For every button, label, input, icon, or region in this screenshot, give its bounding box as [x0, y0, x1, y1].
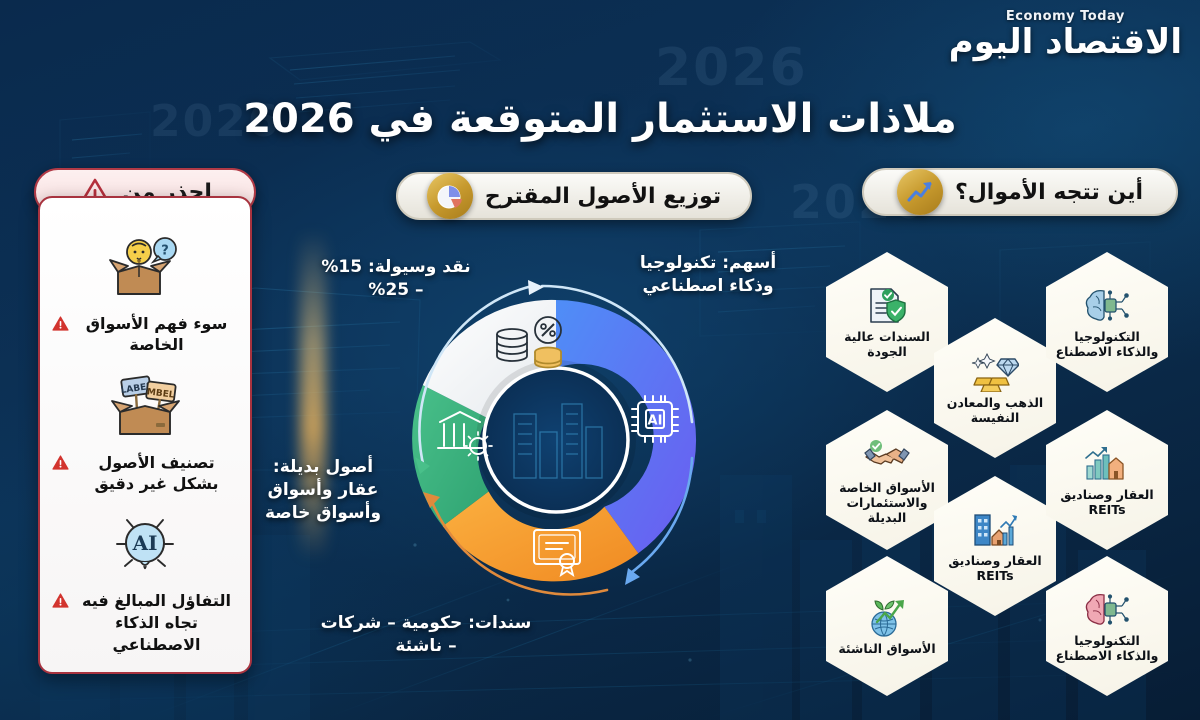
brain-chip-pink-icon: [1084, 589, 1130, 631]
warning-triangle-icon: [52, 593, 69, 608]
house-chart-growth-icon: [1084, 443, 1130, 485]
warning-item-1-label: سوء فهم الأسواق الخاصة: [75, 313, 238, 356]
hex-emerging-markets-label: الأسواق الناشئة: [834, 641, 940, 656]
hex-gold[interactable]: الذهب والمعادن النفيسة: [934, 318, 1056, 458]
warning-item-3: AI التفاؤل المبالغ فيه تجاه الذكاء الاصط…: [48, 508, 242, 655]
hex-reits-mid[interactable]: العقار وصناديق REITs: [934, 476, 1056, 616]
brain-chip-blue-icon: [1084, 285, 1130, 327]
page-title: ملاذات الاستثمار المتوقعة في 2026: [0, 96, 1200, 142]
donut-label-bonds: سندات: حكومية – شركات – ناشئة: [318, 612, 534, 658]
building-house-chart-icon: [972, 509, 1018, 551]
hex-emerging-markets[interactable]: الأسواق الناشئة: [826, 556, 948, 696]
warnings-panel: ? سوء فهم الأسواق الخاصة: [38, 196, 252, 674]
ai-chip-icon: AI: [632, 396, 678, 442]
trending-up-arrow-icon: [897, 169, 943, 215]
brand-logo-arabic: الاقتصاد اليوم: [949, 25, 1182, 59]
svg-text:AI: AI: [648, 414, 663, 429]
gold-bars-diamond-icon: [971, 351, 1019, 393]
warning-item-1: ? سوء فهم الأسواق الخاصة: [48, 231, 242, 356]
pie-chart-icon: [427, 173, 473, 219]
warning-triangle-icon: [52, 316, 69, 331]
hex-tech-top[interactable]: التكنولوجيا والذكاء الاصطناع: [1046, 252, 1168, 392]
hex-bonds-label: السندات عالية الجودة: [834, 329, 940, 359]
background-year-watermark-1: 2026: [655, 38, 808, 98]
brand-logo: Economy Today الاقتصاد اليوم: [949, 10, 1182, 59]
handshake-check-icon: [864, 436, 910, 478]
hex-bonds[interactable]: السندات عالية الجودة: [826, 252, 948, 392]
asset-allocation-donut-chart: AI: [392, 272, 720, 608]
ai-balloon-icon: AI: [48, 508, 242, 584]
infographic-canvas: 2026 2026 2026 Economy Today الاقتصاد ال…: [0, 0, 1200, 720]
hex-reits-right-label: العقار وصناديق REITs: [1054, 487, 1160, 517]
hex-gold-label: الذهب والمعادن النفيسة: [942, 395, 1048, 425]
hex-tech-bottom[interactable]: التكنولوجيا والذكاء الاصطناع: [1046, 556, 1168, 696]
hex-reits-mid-label: العقار وصناديق REITs: [942, 553, 1048, 583]
allocation-section-label: توزيع الأصول المقترح: [485, 184, 721, 209]
warning-item-3-label: التفاؤل المبالغ فيه تجاه الذكاء الاصطناع…: [75, 590, 238, 655]
labels-in-box-icon: LABEL MBEL: [48, 370, 242, 446]
svg-text:AI: AI: [132, 531, 158, 555]
donut-label-alternatives: أصول بديلة: عقار وأسواق وأسواق خاصة: [256, 456, 390, 525]
globe-growth-leaf-icon: [865, 597, 909, 639]
hex-private-markets-label: الأسواق الخاصة والاستئمارات البديلة: [834, 480, 940, 525]
hex-tech-bottom-label: التكنولوجيا والذكاء الاصطناع: [1054, 633, 1160, 663]
svg-text:?: ?: [161, 243, 169, 258]
document-shield-check-icon: [865, 285, 909, 327]
hex-reits-right[interactable]: العقار وصناديق REITs: [1046, 410, 1168, 550]
warning-triangle-icon: [52, 455, 69, 470]
allocation-section-header: توزيع الأصول المقترح: [396, 172, 752, 220]
flows-section-label: أين تتجه الأموال؟: [955, 180, 1143, 205]
warning-item-2: LABEL MBEL تصنيف الأصول بشكل غير دقيق: [48, 370, 242, 495]
flows-section-header: أين تتجه الأموال؟: [862, 168, 1178, 216]
donut-label-stocks: أسهم: تكنولوجيا وذكاء اصطناعي: [618, 252, 798, 298]
hex-tech-top-label: التكنولوجيا والذكاء الاصطناع: [1054, 329, 1160, 359]
warning-item-2-label: تصنيف الأصول بشكل غير دقيق: [75, 452, 238, 495]
donut-label-cash: نقد وسيولة: 15% – 25%: [320, 256, 472, 302]
hex-private-markets[interactable]: الأسواق الخاصة والاستئمارات البديلة: [826, 410, 948, 550]
person-in-box-question-icon: ?: [48, 231, 242, 307]
